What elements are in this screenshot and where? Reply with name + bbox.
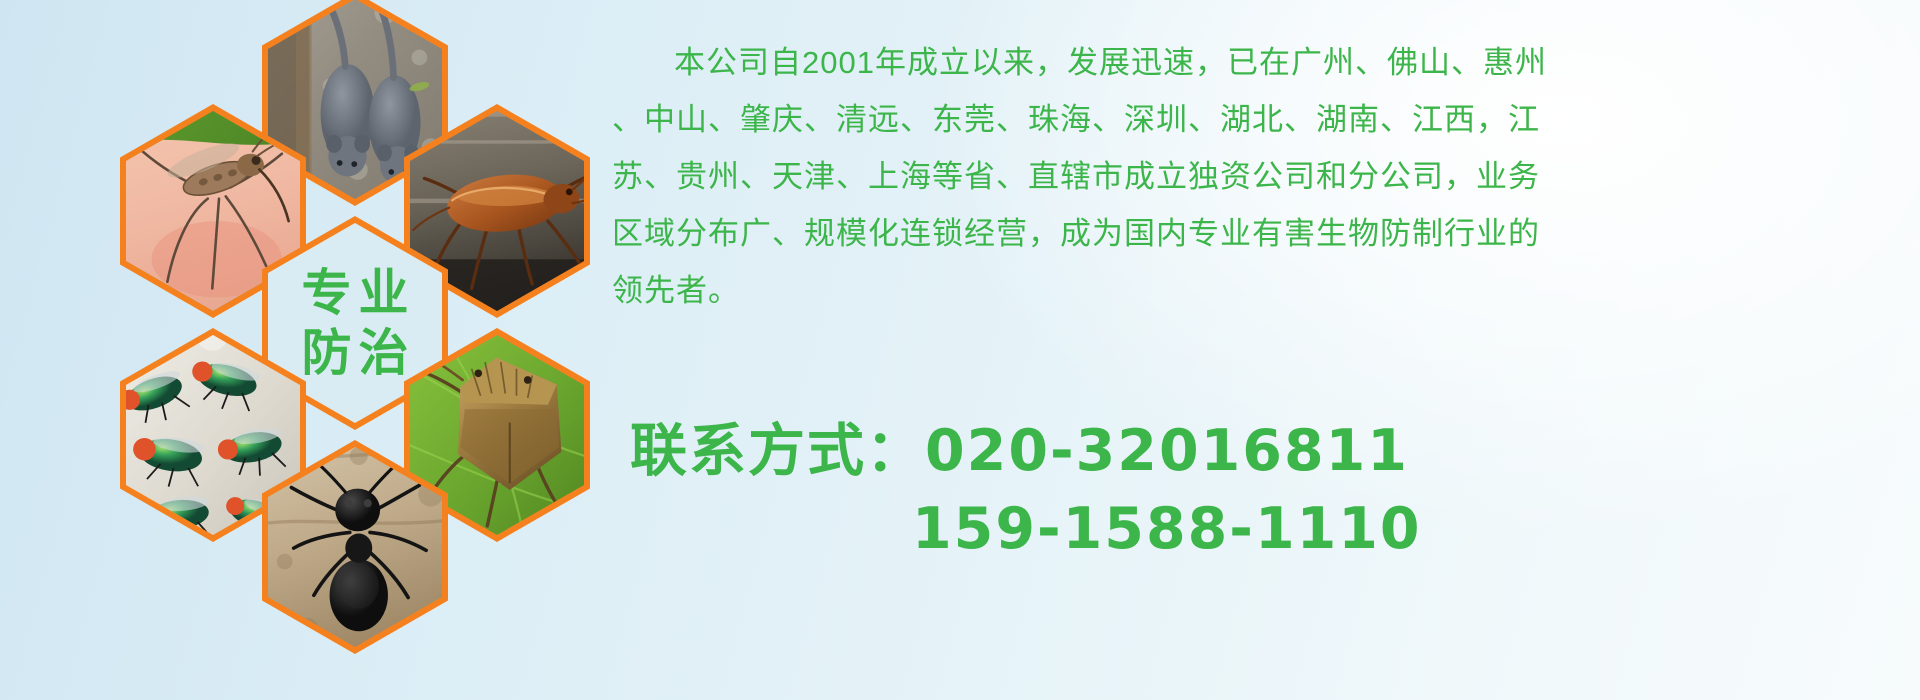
about-paragraph: 本公司自2001年成立以来，发展迅速，已在广州、佛山、惠州 、中山、肇庆、清远、… <box>612 34 1912 319</box>
promo-banner: 专业 防治 <box>0 0 1920 700</box>
hex-ant-inner <box>268 447 442 647</box>
about-line-2: 、中山、肇庆、清远、东莞、珠海、深圳、湖北、湖南、江西，江 <box>612 91 1912 148</box>
about-line-1: 本公司自2001年成立以来，发展迅速，已在广州、佛山、惠州 <box>612 34 1912 91</box>
badge-line-2: 防治 <box>295 327 416 380</box>
contact-phone-primary[interactable]: 联系方式：020-32016811 <box>630 412 1890 490</box>
about-line-5: 领先者。 <box>612 262 1912 319</box>
about-line-3: 苏、贵州、天津、上海等省、直辖市成立独资公司和分公司，业务 <box>612 148 1912 205</box>
badge-line-1: 专业 <box>295 267 416 320</box>
text-column: 本公司自2001年成立以来，发展迅速，已在广州、佛山、惠州 、中山、肇庆、清远、… <box>612 34 1912 674</box>
hexagon-photo-cluster: 专业 防治 <box>80 0 600 600</box>
about-line-4: 区域分布广、规模化连锁经营，成为国内专业有害生物防制行业的 <box>612 205 1912 262</box>
contact-phone-secondary[interactable]: 159-1588-1110 <box>630 490 1890 568</box>
contact-block: 联系方式：020-32016811 159-1588-1110 <box>630 412 1890 568</box>
ant-photo <box>268 447 442 647</box>
